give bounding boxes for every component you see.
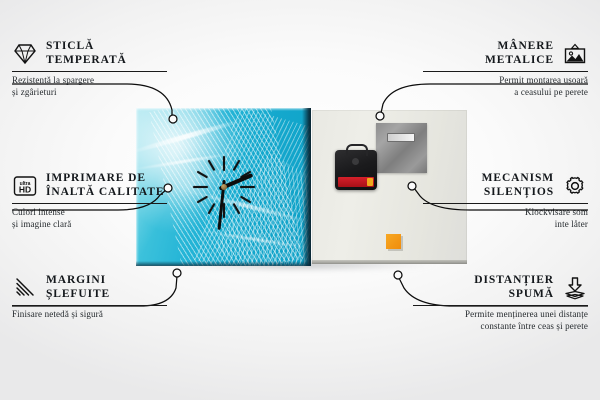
feature-desc: Permit montarea ușoară a ceasului pe per…	[423, 75, 588, 98]
foam-spacer-icon	[562, 276, 588, 300]
feature-polished-edges: MARGINI ȘLEFUITE Finisare netedă și sigu…	[12, 274, 167, 321]
gear-icon	[562, 174, 588, 198]
glass-edge-top	[136, 108, 311, 111]
feature-desc: Culori intense și imagine clară	[12, 207, 167, 230]
feature-foam-spacer: DISTANȚIER SPUMĂ Permite menținerea unei…	[413, 274, 588, 332]
feature-header: MECANISM SILENȚIOS	[423, 172, 588, 199]
metal-hanger-plate	[376, 123, 427, 173]
glass-edge-right	[302, 108, 311, 266]
feature-header: MÂNERE METALICE	[423, 40, 588, 67]
svg-text:HD: HD	[19, 184, 31, 194]
feature-header: STICLĂ TEMPERATĂ	[12, 40, 167, 67]
glass-edge-bottom	[136, 261, 311, 266]
picture-hanger-icon	[562, 42, 588, 66]
feature-header: MARGINI ȘLEFUITE	[12, 274, 167, 301]
feature-desc: Finisare netedă și sigură	[12, 309, 167, 321]
feature-rule	[423, 203, 588, 204]
feature-title: DISTANȚIER SPUMĂ	[474, 274, 554, 301]
feature-silent-mechanism: MECANISM SILENȚIOS Klockvisare som inte …	[423, 172, 588, 230]
feature-desc: Klockvisare som inte låter	[423, 207, 588, 230]
foam-spacer	[386, 234, 401, 249]
battery-terminal	[367, 178, 373, 186]
feature-title: STICLĂ TEMPERATĂ	[46, 40, 127, 67]
feature-title: MARGINI ȘLEFUITE	[46, 274, 110, 301]
feature-title: MÂNERE METALICE	[485, 40, 554, 67]
ultra-hd-badge-icon: ultra HD	[12, 174, 38, 198]
feature-desc: Permite menținerea unei distanțe constan…	[413, 309, 588, 332]
feature-rule	[12, 71, 167, 72]
feature-header: DISTANȚIER SPUMĂ	[413, 274, 588, 301]
feature-metal-handles: MÂNERE METALICE Permit montarea ușoară a…	[423, 40, 588, 98]
mechanism-loop	[346, 144, 368, 156]
panel-bottom-edge	[312, 260, 467, 264]
feature-tempered-glass: STICLĂ TEMPERATĂ Rezistentă la spargere …	[12, 40, 167, 98]
quartz-mechanism	[335, 150, 377, 190]
mechanism-shaft	[352, 158, 359, 165]
feature-rule	[423, 71, 588, 72]
feature-title: IMPRIMARE DE ÎNALTĂ CALITATE	[46, 172, 164, 199]
feature-title: MECANISM SILENȚIOS	[482, 172, 554, 199]
polished-edges-icon	[12, 276, 38, 300]
product-photo	[136, 108, 467, 268]
feature-rule	[12, 305, 167, 306]
feature-rule	[413, 305, 588, 306]
feature-print-quality: ultra HD IMPRIMARE DE ÎNALTĂ CALITATE Cu…	[12, 172, 167, 230]
hanger-slot	[387, 133, 415, 142]
feature-header: ultra HD IMPRIMARE DE ÎNALTĂ CALITATE	[12, 172, 167, 199]
battery	[338, 177, 374, 187]
feature-desc: Rezistentă la spargere și zgârieturi	[12, 75, 167, 98]
diamond-icon	[12, 42, 38, 66]
hand-cap	[221, 184, 227, 190]
feature-rule	[12, 203, 167, 204]
